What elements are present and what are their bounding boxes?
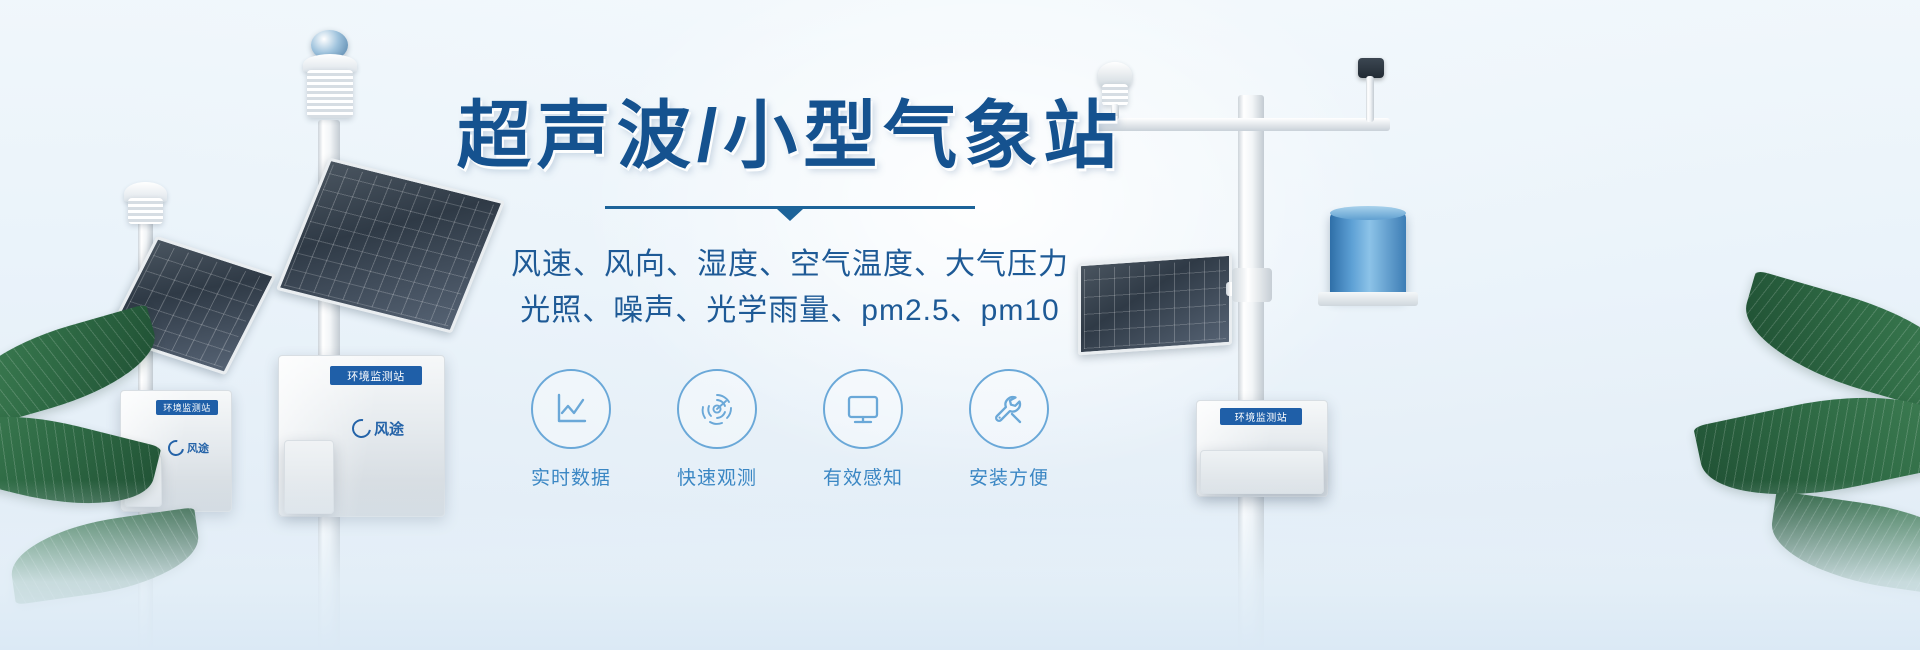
product-banner: 环境监测站 风途 环境监测站 风途: [0, 0, 1920, 650]
brand-text: 风途: [187, 440, 209, 456]
radiation-shield: [307, 70, 353, 118]
brand-tag-left: 风途: [168, 440, 209, 456]
feature-list: 实时数据: [440, 369, 1140, 490]
feature-item-realtime-data[interactable]: 实时数据: [527, 369, 615, 490]
feature-item-easy-installation[interactable]: 安装方便: [965, 369, 1053, 490]
feature-label: 有效感知: [823, 463, 903, 490]
chevron-down-triangle-icon: [777, 209, 803, 221]
mast-collar: [1232, 268, 1272, 302]
feature-icon-circle: [823, 369, 903, 449]
rain-gauge-funnel: [1330, 206, 1406, 220]
rain-gauge: [1330, 212, 1406, 298]
radar-scan-icon: [696, 388, 738, 430]
subtitle-block: 风速、风向、湿度、空气温度、大气压力 光照、噪声、光学雨量、pm2.5、pm10: [440, 242, 1140, 335]
brand-text: 风途: [374, 418, 404, 439]
ground-fade: [0, 480, 1920, 650]
camera-sensor: [1358, 58, 1384, 78]
banner-content: 超声波/小型气象站 风速、风向、湿度、空气温度、大气压力 光照、噪声、光学雨量、…: [440, 96, 1140, 490]
subtitle-line-2: 光照、噪声、光学雨量、pm2.5、pm10: [440, 288, 1140, 335]
brand-mark-icon: [348, 415, 374, 441]
station-label-right: 环境监测站: [1220, 408, 1302, 425]
station-label-left: 环境监测站: [156, 400, 218, 415]
title-divider: [605, 206, 975, 220]
sensor-stem: [1366, 76, 1374, 122]
feature-label: 实时数据: [531, 463, 611, 490]
feature-icon-circle: [677, 369, 757, 449]
subtitle-line-1: 风速、风向、湿度、空气温度、大气压力: [440, 242, 1140, 289]
page-title: 超声波/小型气象站: [440, 96, 1140, 176]
wrench-icon: [988, 388, 1030, 430]
feature-item-effective-sensing[interactable]: 有效感知: [819, 369, 907, 490]
monitor-icon: [842, 389, 884, 429]
station-label-center: 环境监测站: [330, 366, 422, 385]
feature-icon-circle: [969, 369, 1049, 449]
rain-gauge-shelf: [1318, 292, 1418, 306]
feature-icon-circle: [531, 369, 611, 449]
feature-item-fast-observation[interactable]: 快速观测: [673, 369, 761, 490]
brand-mark-icon: [165, 437, 187, 459]
radiation-shield: [128, 198, 163, 224]
brand-tag-center: 风途: [352, 418, 404, 439]
line-chart-icon: [551, 389, 591, 429]
feature-label: 安装方便: [969, 463, 1049, 490]
feature-label: 快速观测: [677, 463, 757, 490]
